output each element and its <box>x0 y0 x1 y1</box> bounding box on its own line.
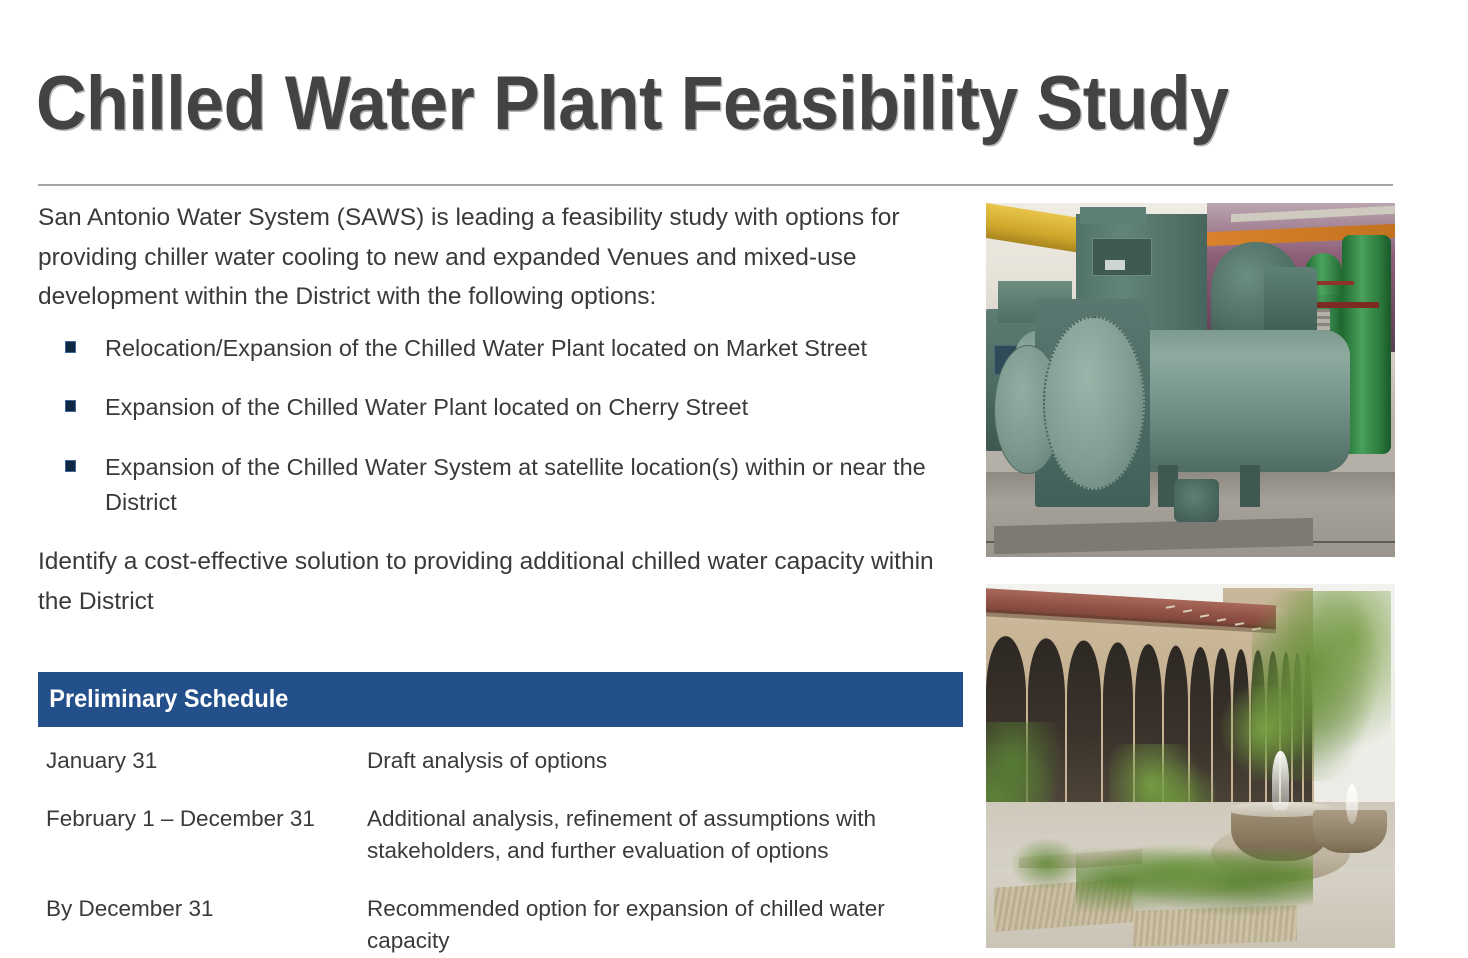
square-bullet-icon <box>66 461 75 471</box>
photo-vessel-support <box>1240 465 1260 507</box>
list-item-label: Expansion of the Chilled Water System at… <box>105 454 926 515</box>
photo-pump <box>1174 479 1219 521</box>
page-title: Chilled Water Plant Feasibility Study <box>36 66 1287 142</box>
photo-mid-tree <box>1215 686 1313 781</box>
options-bullet-list: Relocation/Expansion of the Chilled Wate… <box>38 331 968 520</box>
photo-vessel-head-flange <box>1043 316 1145 490</box>
square-bullet-icon <box>66 342 75 352</box>
title-divider <box>38 184 1393 186</box>
table-row: January 31 Draft analysis of options <box>46 745 966 803</box>
schedule-table: January 31 Draft analysis of options Feb… <box>46 745 966 957</box>
closing-paragraph: Identify a cost-effective solution to pr… <box>38 542 938 621</box>
photo-compressor-motor <box>1264 267 1317 338</box>
square-bullet-icon <box>66 401 75 411</box>
schedule-description: Recommended option for expansion of chil… <box>367 893 966 957</box>
list-item-label: Expansion of the Chilled Water Plant loc… <box>105 394 748 420</box>
schedule-date: February 1 – December 31 <box>46 803 367 893</box>
plaza-fountain-photo <box>986 584 1395 948</box>
chiller-plant-equipment-photo <box>986 203 1395 557</box>
list-item: Expansion of the Chilled Water System at… <box>38 450 985 521</box>
photo-nameplate <box>1105 260 1125 271</box>
schedule-date: By December 31 <box>46 893 367 957</box>
schedule-banner-label: Preliminary Schedule <box>38 685 288 714</box>
schedule-date: January 31 <box>46 745 367 803</box>
preliminary-schedule-banner: Preliminary Schedule <box>38 672 963 727</box>
photo-shrub-cluster <box>1076 828 1313 915</box>
list-item: Relocation/Expansion of the Chilled Wate… <box>38 331 985 366</box>
photo-chiller-cabinet-cap <box>1080 207 1145 225</box>
schedule-description: Additional analysis, refinement of assum… <box>367 803 966 893</box>
intro-paragraph: San Antonio Water System (SAWS) is leadi… <box>38 198 928 317</box>
table-row: By December 31 Recommended option for ex… <box>46 893 966 957</box>
list-item: Expansion of the Chilled Water Plant loc… <box>38 390 985 425</box>
content-column: San Antonio Water System (SAWS) is leadi… <box>38 198 968 621</box>
photo-fountain-jet <box>1272 751 1288 809</box>
table-row: February 1 – December 31 Additional anal… <box>46 803 966 893</box>
list-item-label: Relocation/Expansion of the Chilled Wate… <box>105 335 867 361</box>
schedule-description: Draft analysis of options <box>367 745 966 803</box>
photo-red-pipe-upper <box>1313 281 1354 286</box>
